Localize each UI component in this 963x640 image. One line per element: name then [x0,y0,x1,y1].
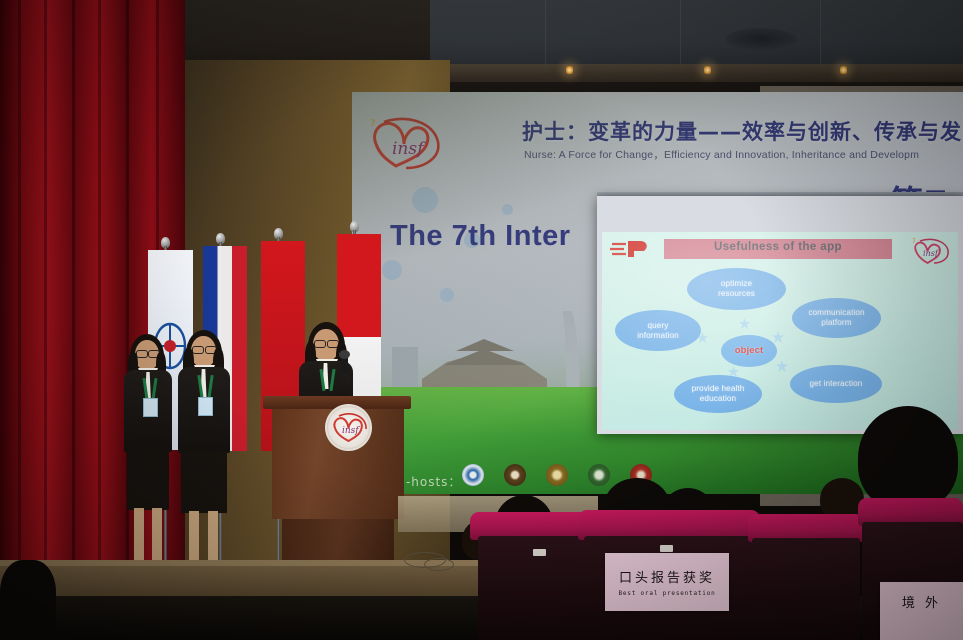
seat-sign-en: Best oral presentation [618,590,715,597]
ceiling-vent [725,28,797,50]
slide-projector-glow [602,232,958,430]
presentation-slide: Usefulness of the app insf 7 optimize re… [602,232,958,430]
seat-sign-overseas: 境 外 [880,582,963,640]
seat-sign-cn: 口头报告获奖 [619,567,715,586]
ceiling-spotlight [566,66,573,74]
ceiling-seam [820,0,821,72]
svg-text:insf: insf [342,426,360,436]
floor-cable [424,558,454,571]
seat-sign-best-oral-presentation: 口头报告获奖 Best oral presentation [605,553,729,611]
presenter-badge [143,398,158,417]
seat-back [752,538,860,640]
audience-head-foreground [0,560,56,640]
ceiling-seam [680,0,681,72]
presenter-badge [198,397,213,416]
audience-head-foreground [858,406,958,510]
ceiling-spotlight [840,66,847,74]
podium-insf-emblem: insf [325,404,372,451]
seat-sign-cn: 境 外 [902,592,941,611]
ceiling-seam [545,0,546,72]
ceiling-spotlight [704,66,711,74]
conference-photo-scene: insf 7 护士：变革的力量——效率与创新、传承与发 Nurse: A For… [0,0,963,640]
seat-number [533,549,546,556]
ceiling-beam [430,64,963,82]
ceiling-panel [430,0,963,72]
seat-number [660,545,673,552]
